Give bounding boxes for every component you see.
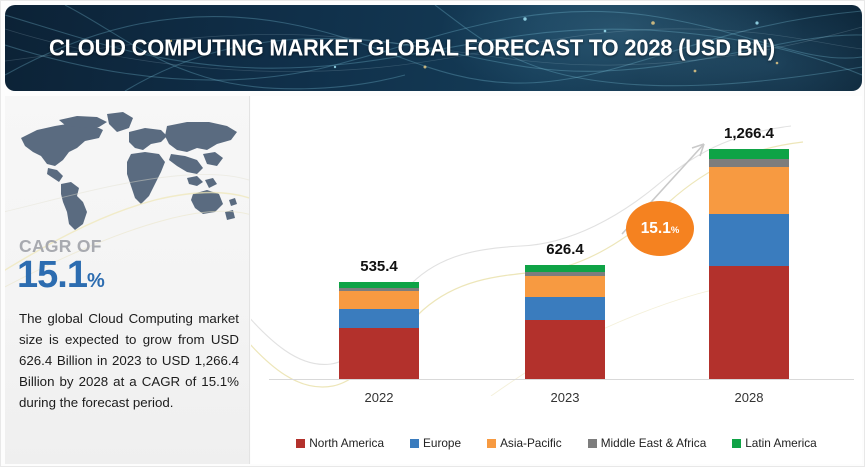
bar-total-label: 535.4 bbox=[360, 258, 398, 275]
cagr-value: 15.1% bbox=[17, 254, 104, 297]
stacked-bar[interactable] bbox=[339, 282, 419, 379]
legend-swatch-icon bbox=[588, 439, 597, 448]
bar-segment-europe[interactable] bbox=[339, 309, 419, 328]
title-banner: CLOUD COMPUTING MARKET GLOBAL FORECAST T… bbox=[5, 5, 862, 91]
legend-item[interactable]: Europe bbox=[410, 436, 461, 450]
legend-swatch-icon bbox=[732, 439, 741, 448]
bar-segment-asia-pacific[interactable] bbox=[525, 276, 605, 297]
legend-label: Europe bbox=[423, 436, 461, 450]
bar-segment-north-america[interactable] bbox=[709, 266, 789, 379]
bar-segment-north-america[interactable] bbox=[339, 328, 419, 379]
legend-item[interactable]: Asia-Pacific bbox=[487, 436, 562, 450]
legend-swatch-icon bbox=[410, 439, 419, 448]
sidebar-panel: CAGR OF 15.1% The global Cloud Computing… bbox=[5, 96, 250, 464]
world-map-svg bbox=[11, 108, 247, 236]
legend-label: Middle East & Africa bbox=[601, 436, 707, 450]
legend-item[interactable]: North America bbox=[296, 436, 384, 450]
x-axis-line bbox=[269, 379, 854, 380]
stacked-bar-chart: 535.4 2022 626.4 2023 1,266.4 bbox=[251, 96, 862, 464]
bar-segment-asia-pacific[interactable] bbox=[339, 291, 419, 309]
bar-segment-europe[interactable] bbox=[525, 297, 605, 320]
cagr-percent-symbol: % bbox=[87, 270, 104, 292]
bar-group-2022[interactable]: 535.4 2022 bbox=[339, 282, 419, 379]
page-title: CLOUD COMPUTING MARKET GLOBAL FORECAST T… bbox=[49, 35, 775, 62]
infographic-page: CLOUD COMPUTING MARKET GLOBAL FORECAST T… bbox=[0, 0, 865, 467]
x-axis-label-2028: 2028 bbox=[735, 390, 764, 405]
bar-segment-latin-america[interactable] bbox=[525, 265, 605, 272]
legend-label: Asia-Pacific bbox=[500, 436, 562, 450]
legend-item[interactable]: Middle East & Africa bbox=[588, 436, 707, 450]
x-axis-label-2023: 2023 bbox=[551, 390, 580, 405]
cagr-badge-percent: % bbox=[671, 225, 679, 236]
legend-label: North America bbox=[309, 436, 384, 450]
legend-swatch-icon bbox=[296, 439, 305, 448]
cagr-number: 15.1 bbox=[17, 254, 87, 296]
sidebar-description: The global Cloud Computing market size i… bbox=[19, 308, 239, 413]
bar-total-label: 626.4 bbox=[546, 241, 584, 258]
chart-legend: North AmericaEuropeAsia-PacificMiddle Ea… bbox=[251, 436, 862, 450]
legend-label: Latin America bbox=[745, 436, 816, 450]
legend-swatch-icon bbox=[487, 439, 496, 448]
cagr-badge[interactable]: 15.1% bbox=[626, 201, 694, 256]
stacked-bar[interactable] bbox=[525, 265, 605, 379]
bar-segment-north-america[interactable] bbox=[525, 320, 605, 379]
world-map-icon bbox=[11, 108, 247, 236]
cagr-badge-value: 15.1 bbox=[641, 220, 671, 237]
x-axis-label-2022: 2022 bbox=[365, 390, 394, 405]
cagr-badge-text: 15.1% bbox=[641, 220, 680, 238]
bar-total-label: 1,266.4 bbox=[724, 125, 774, 142]
bar-group-2023[interactable]: 626.4 2023 bbox=[525, 265, 605, 379]
legend-item[interactable]: Latin America bbox=[732, 436, 816, 450]
